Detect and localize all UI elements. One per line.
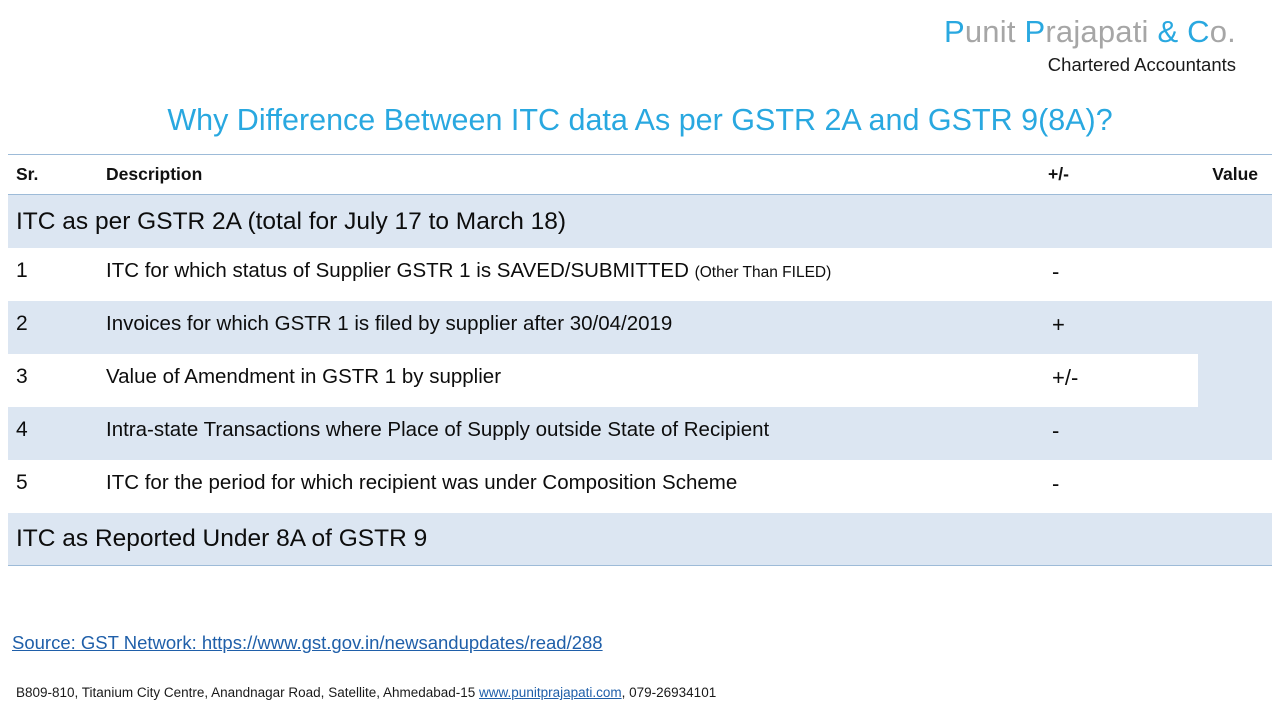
cell-sr: 3: [8, 363, 106, 391]
source-link[interactable]: Source: GST Network: https://www.gst.gov…: [12, 632, 603, 654]
cell-description: ITC for the period for which recipient w…: [106, 469, 1038, 497]
cell-sign: -: [1038, 469, 1154, 499]
cell-description-main: ITC for which status of Supplier GSTR 1 …: [106, 259, 695, 282]
section-row-opening: ITC as per GSTR 2A (total for July 17 to…: [8, 195, 1272, 248]
footer-address: B809-810, Titanium City Centre, Anandnag…: [16, 685, 479, 700]
brand-logo: Punit Prajapati & Co. Chartered Accounta…: [944, 16, 1236, 75]
cell-sign: +: [1038, 310, 1154, 340]
table-row: 5 ITC for the period for which recipient…: [8, 460, 1272, 513]
footer-phone: , 079-26934101: [622, 685, 717, 700]
cell-description: Invoices for which GSTR 1 is filed by su…: [106, 310, 1038, 338]
itc-difference-table: Sr. Description +/- Value ITC as per GST…: [8, 154, 1272, 566]
cell-sr: 2: [8, 310, 106, 338]
table-row: 1 ITC for which status of Supplier GSTR …: [8, 248, 1272, 301]
section-row-closing: ITC as Reported Under 8A of GSTR 9: [8, 513, 1272, 566]
slide: Punit Prajapati & Co. Chartered Accounta…: [0, 0, 1280, 720]
cell-description-note: (Other Than FILED): [695, 264, 832, 281]
cell-sr: 4: [8, 416, 106, 444]
cell-description: Value of Amendment in GSTR 1 by supplier: [106, 363, 1038, 391]
column-header-sr: Sr.: [8, 164, 106, 185]
column-header-description: Description: [106, 164, 1038, 185]
page-title: Why Difference Between ITC data As per G…: [0, 103, 1280, 138]
footer-contact: B809-810, Titanium City Centre, Anandnag…: [16, 685, 716, 700]
table-row: 2 Invoices for which GSTR 1 is filed by …: [8, 301, 1272, 354]
column-header-value: Value: [1154, 164, 1272, 185]
cell-sign: +/-: [1038, 363, 1154, 393]
column-header-sign: +/-: [1038, 164, 1154, 185]
footer-website-link[interactable]: www.punitprajapati.com: [479, 685, 622, 700]
cell-sign: -: [1038, 416, 1154, 446]
cell-description: Intra-state Transactions where Place of …: [106, 416, 1038, 444]
brand-name: Punit Prajapati & Co.: [944, 16, 1236, 47]
table-row: 4 Intra-state Transactions where Place o…: [8, 407, 1272, 460]
cell-sr: 5: [8, 469, 106, 497]
cell-description: ITC for which status of Supplier GSTR 1 …: [106, 257, 1038, 285]
cell-sign: -: [1038, 257, 1154, 287]
table-row: 3 Value of Amendment in GSTR 1 by suppli…: [8, 354, 1272, 407]
brand-subtitle: Chartered Accountants: [944, 56, 1236, 75]
cell-sr: 1: [8, 257, 106, 285]
table-header-row: Sr. Description +/- Value: [8, 154, 1272, 195]
